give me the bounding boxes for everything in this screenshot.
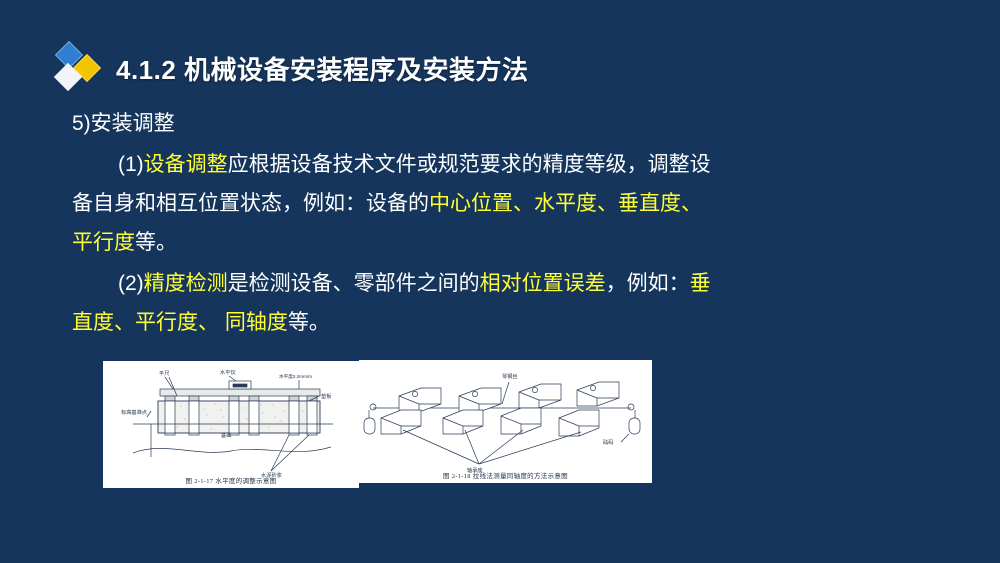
label-wire: 琴钢丝 [502, 372, 518, 380]
figure-left-drawing: 平尺 水平仪 水平度0.2mm/m 垫板 标高基准点 基础 水泥砂浆 [103, 361, 359, 488]
para2-indent [72, 272, 118, 295]
para2-run-2: 是检测设备、零部件之间的 [228, 272, 480, 295]
label-foundation: 基础 [221, 431, 231, 439]
para2-run-6: 等。 [288, 311, 330, 334]
three-diamond-logo-icon [50, 42, 106, 94]
heading-text: 5)安装调整 [72, 112, 175, 135]
label-benchmark: 标高基准点 [121, 408, 147, 416]
para1-indent [72, 153, 118, 176]
paragraph-1: (1)设备调整应根据设备技术文件或规范要求的精度等级，调整设备自身和相互位置状态… [72, 145, 722, 262]
figure-right-drawing: 琴钢丝 轴承座 砝码 [359, 360, 652, 483]
para1-run-1: 设备调整 [144, 153, 228, 176]
para2-run-1: 精度检测 [144, 272, 228, 295]
label-level: 水平仪 [220, 368, 236, 376]
figure-right-caption: 图 2-1-18 拉线法测量同轴度的方法示意图 [359, 470, 652, 480]
para2-run-3: 相对位置误差 [480, 272, 606, 295]
slide-title-row: 4.1.2 机械设备安装程序及安装方法 [50, 40, 529, 96]
label-levelness: 水平度0.2mm/m [279, 373, 312, 380]
body-heading: 5)安装调整 [72, 104, 722, 143]
figure-levelness-adjustment: 平尺 水平仪 水平度0.2mm/m 垫板 标高基准点 基础 水泥砂浆 图 2-1… [103, 361, 359, 488]
label-weight: 砝码 [603, 438, 613, 446]
paragraph-2: (2)精度检测是检测设备、零部件之间的相对位置误差，例如：垂直度、平行度、 同轴… [72, 264, 722, 342]
label-shim: 垫板 [321, 392, 332, 400]
para2-run-0: (2) [118, 272, 144, 295]
para1-run-4: 等。 [135, 231, 177, 254]
label-ruler: 平尺 [159, 370, 169, 377]
para1-run-0: (1) [118, 153, 144, 176]
page-title: 4.1.2 机械设备安装程序及安装方法 [116, 50, 529, 87]
slide-root: 4.1.2 机械设备安装程序及安装方法 5)安装调整 (1)设备调整应根据设备技… [0, 0, 1000, 563]
figure-left-caption: 图 2-1-17 水平度的调整示意图 [103, 475, 359, 485]
slide-body: 5)安装调整 (1)设备调整应根据设备技术文件或规范要求的精度等级，调整设备自身… [72, 104, 722, 342]
figure-coaxiality-measurement: 琴钢丝 轴承座 砝码 图 2-1-18 拉线法测量同轴度的方法示意图 [359, 360, 652, 483]
para2-run-4: ，例如： [606, 272, 690, 295]
